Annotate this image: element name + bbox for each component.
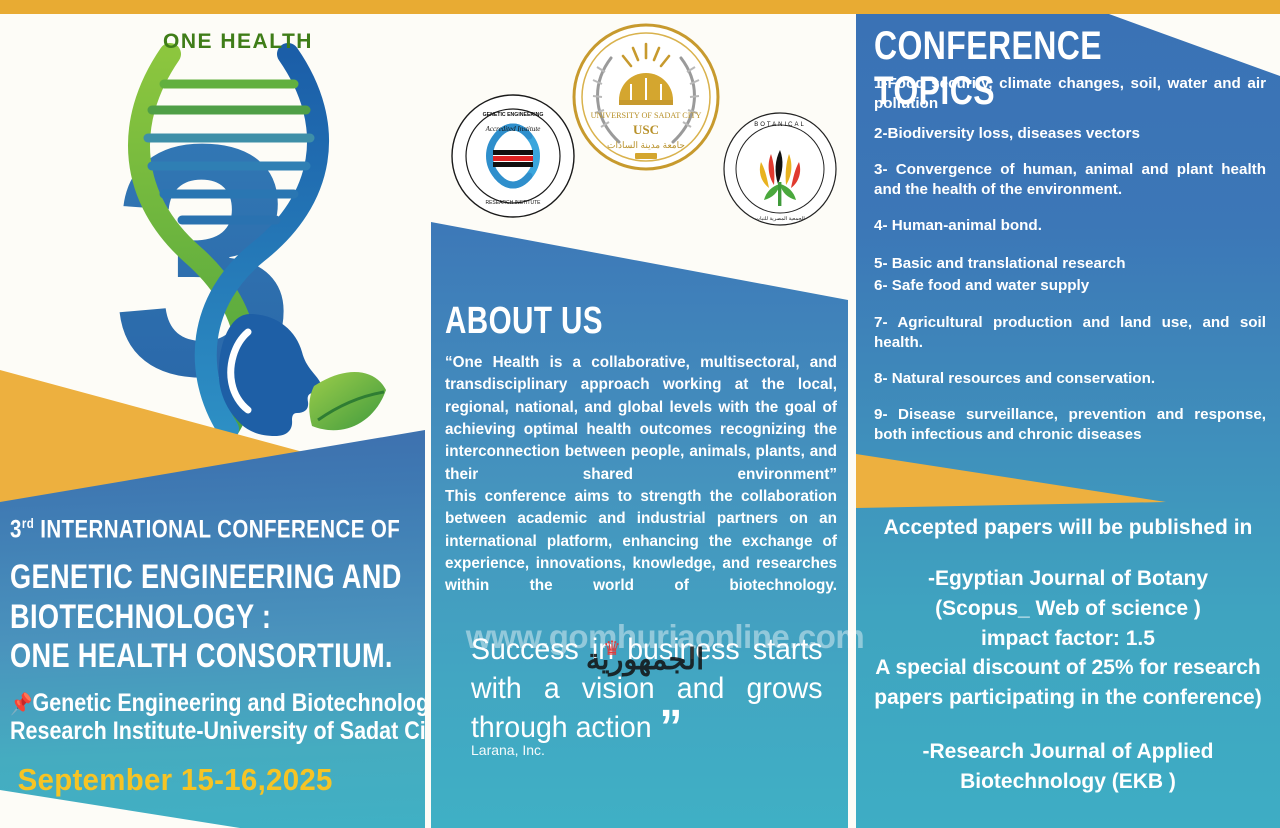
topics-list: 1-Food security, climate changes, soil, … [874,74,1266,455]
about-body: “One Health is a collaborative, multisec… [445,352,837,598]
institute-line-2: Research Institute-University of Sadat C… [10,717,358,746]
middle-column: GENETIC ENGINEERING Accredited Institute… [431,0,848,828]
one-health-label: ONE HEALTH [148,30,328,54]
about-quote-paragraph: “One Health is a collaborative, multisec… [445,352,837,486]
ordinal-suffix: rd [22,515,34,531]
ordinal-number: 3 [10,515,22,543]
right-column: CONFERENCE TOPICS 1-Food security, clima… [856,0,1280,828]
discount-line-1: A special discount of 25% for research [864,653,1272,683]
conference-date: September 15-16,2025 [10,762,395,798]
institute-line-1: Genetic Engineering and Biotechnology [32,689,425,717]
conference-title: GENETIC ENGINEERING AND BIOTECHNOLOGY : … [10,558,334,676]
journal-1-index: (Scopus_ Web of science ) [864,594,1272,624]
topic-item: 5- Basic and translational research [874,254,1266,274]
journal-1-impact-factor: impact factor: 1.5 [864,624,1272,654]
pushpin-icon: 📌 [10,693,32,716]
pull-quote-line-1: Success in business starts [471,630,823,669]
top-gold-bar [0,0,1280,14]
about-heading: ABOUT US [445,300,603,343]
topic-item: 7- Agricultural production and land use,… [874,313,1266,353]
publication-info: Accepted papers will be published in -Eg… [864,516,1272,797]
pull-quote-line-3: through action [471,711,652,744]
journal-1-name: -Egyptian Journal of Botany [864,564,1272,594]
topic-item: 4- Human-animal bond. [874,216,1266,236]
spacer [864,713,1272,737]
title-line-1: GENETIC ENGINEERING AND [10,558,334,597]
international-conference-of: INTERNATIONAL CONFERENCE OF [40,515,400,543]
journal-2-line-2: Biotechnology (EKB ) [864,767,1272,797]
host-institute: 📌Genetic Engineering and Biotechnology R… [10,689,358,747]
about-panel-content: ABOUT US “One Health is a collaborative,… [431,0,848,828]
topic-item: 3- Convergence of human, animal and plan… [874,160,1266,200]
left-column: ONE HEALTH 3 [0,0,425,828]
topic-item: 2-Biodiversity loss, diseases vectors [874,124,1266,144]
discount-line-2: papers participating in the conference) [864,683,1272,713]
pull-quote-line-2: with a vision and grows [471,669,823,708]
pull-quote: Success in business starts with a vision… [471,630,823,747]
one-health-graphic: 3 [52,14,392,454]
topic-item: 8- Natural resources and conservation. [874,369,1266,389]
quote-mark-icon: ” [660,701,681,754]
topic-item: 9- Disease surveillance, prevention and … [874,405,1266,445]
conference-poster: ONE HEALTH 3 [0,0,1280,828]
publication-heading: Accepted papers will be published in [864,516,1272,540]
one-health-artwork: ONE HEALTH 3 [52,14,392,454]
spacer [864,540,1272,564]
journal-2-line-1: -Research Journal of Applied [864,737,1272,767]
topic-item: 6- Safe food and water supply [874,276,1266,296]
pull-quote-source: Larana, Inc. [471,742,545,758]
topic-item: 1-Food security, climate changes, soil, … [874,74,1266,114]
about-aim-paragraph: This conference aims to strength the col… [445,486,837,598]
conference-title-block: 3rd INTERNATIONAL CONFERENCE OF GENETIC … [0,515,425,798]
title-line-3: ONE HEALTH CONSORTIUM. [10,637,334,676]
title-line-2: BIOTECHNOLOGY : [10,598,334,637]
conference-ordinal-line: 3rd INTERNATIONAL CONFERENCE OF [10,515,342,544]
